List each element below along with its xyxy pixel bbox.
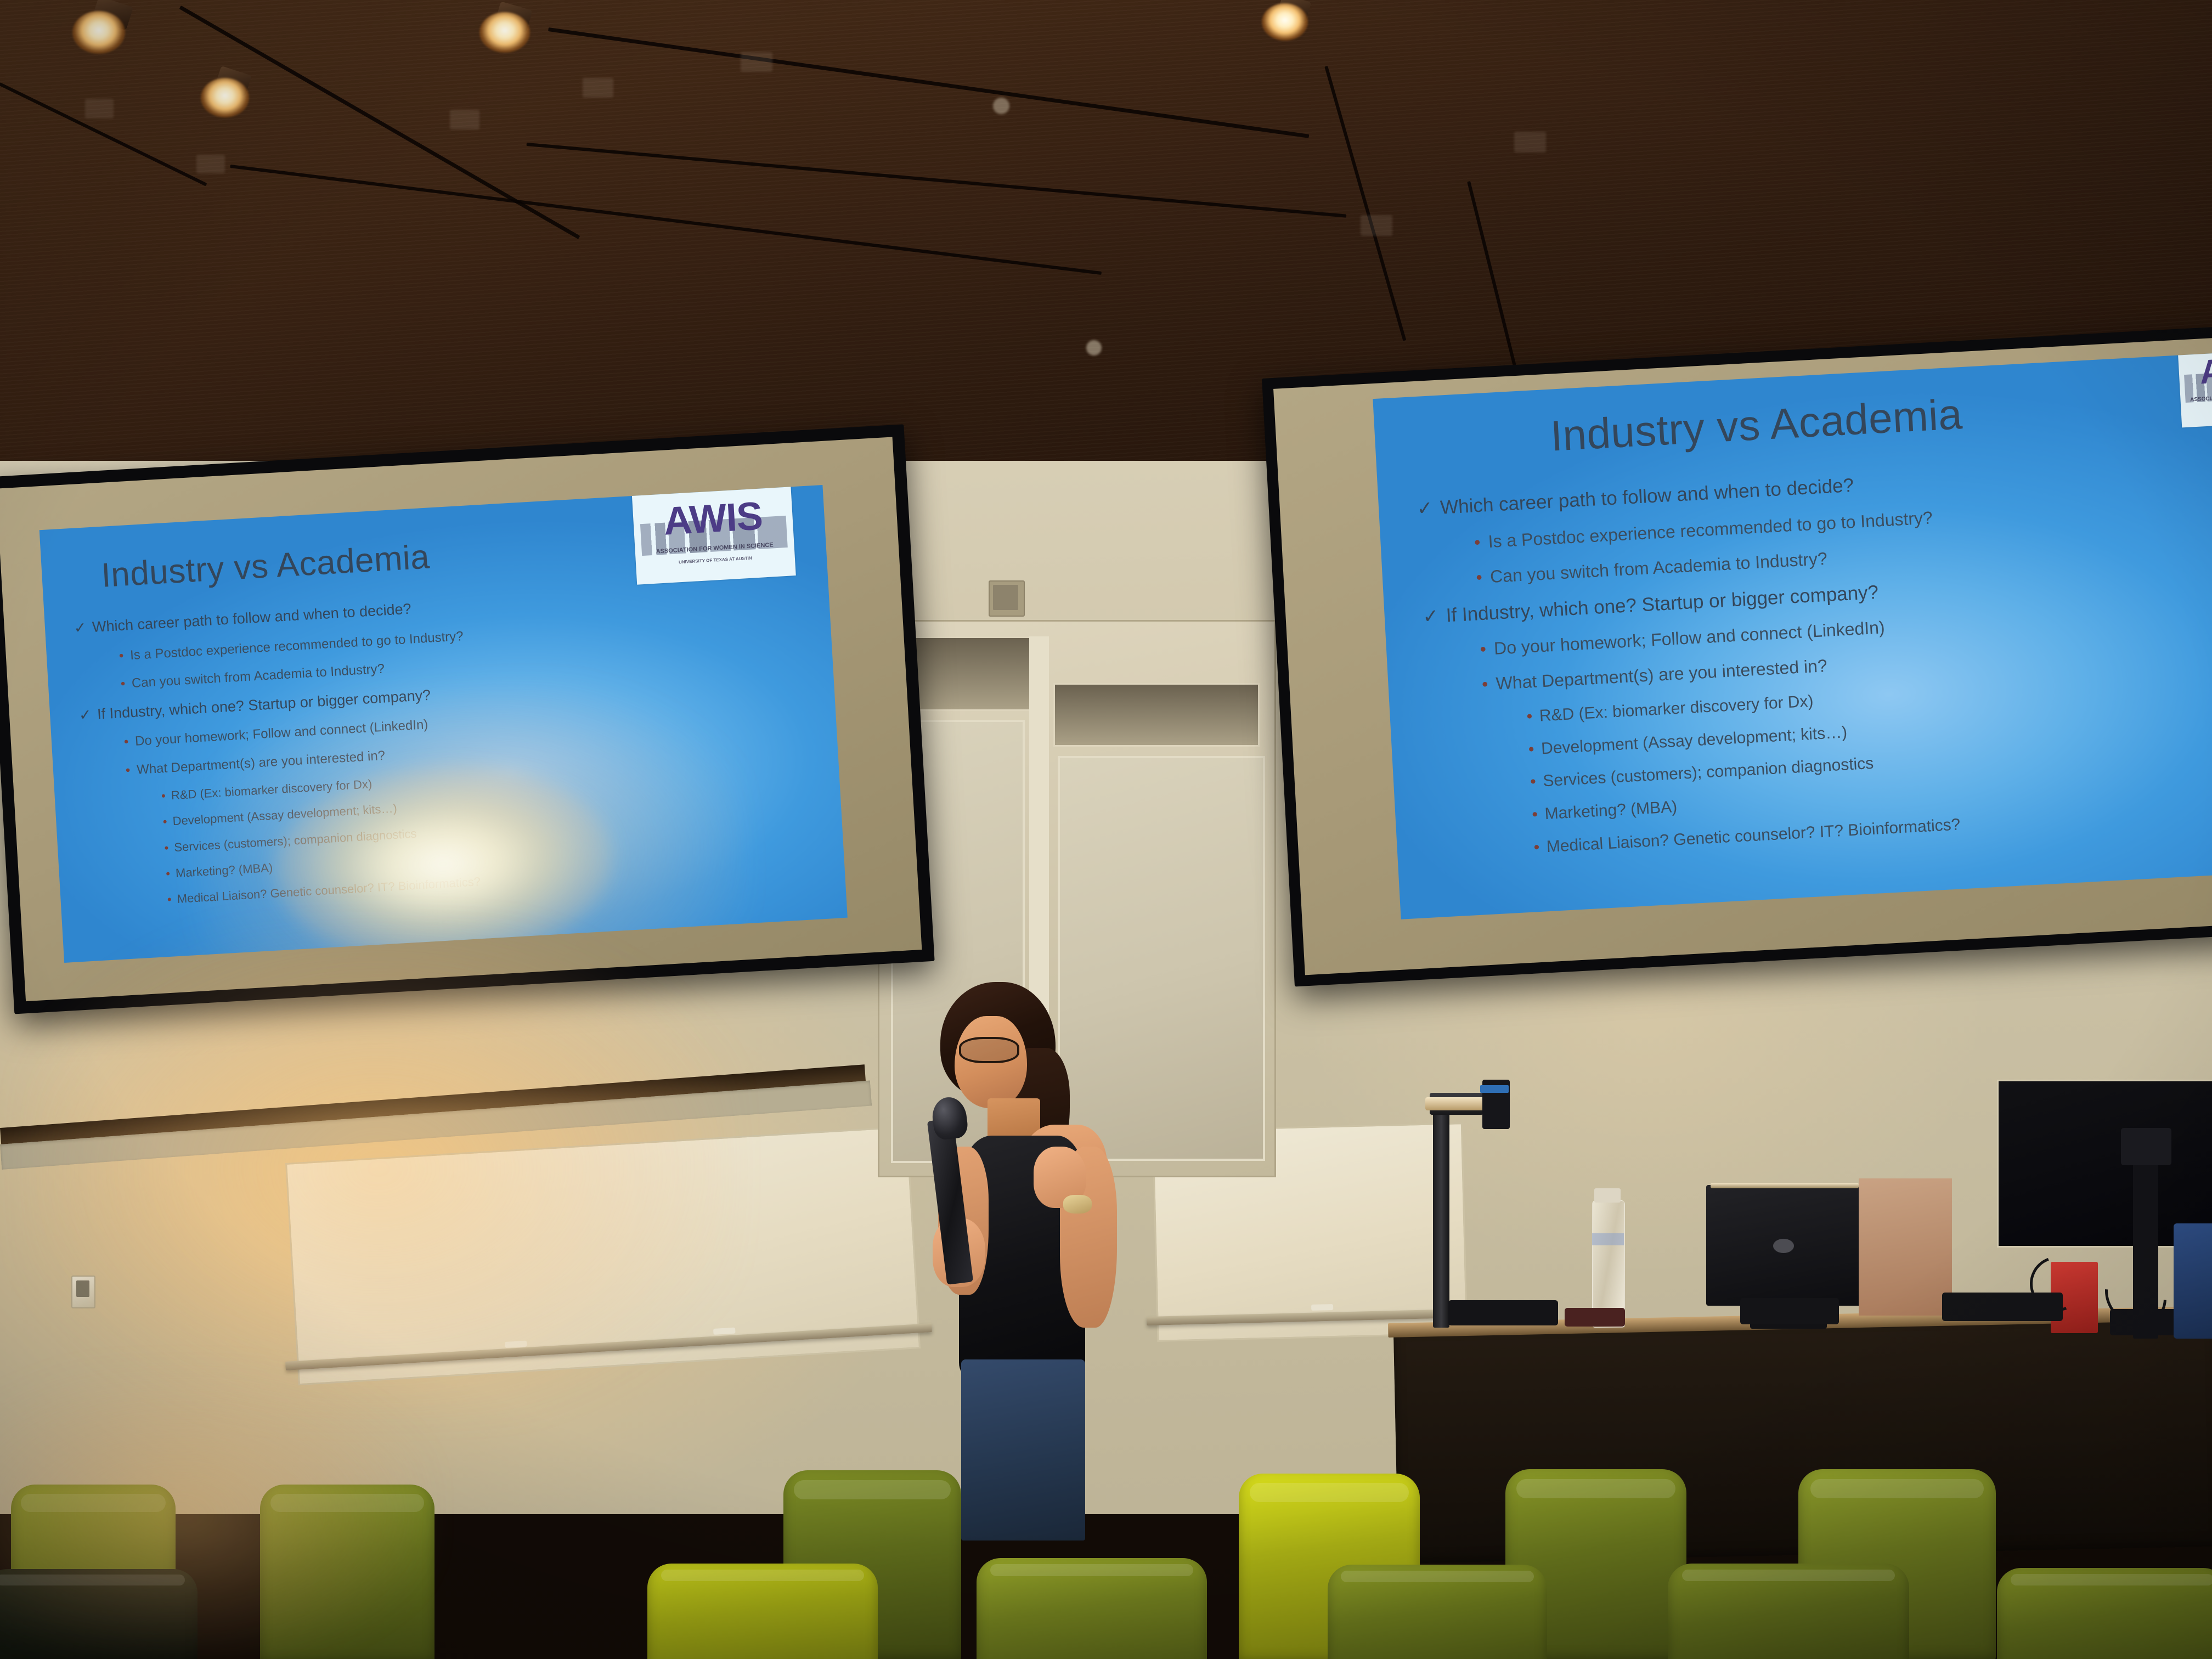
- right-slide-bullets: ✓ Which career path to follow and when t…: [1409, 454, 2212, 862]
- bullet-dot-icon: •: [114, 676, 132, 691]
- ceiling-vent: [85, 99, 114, 119]
- desk-cable-clutter: [1565, 1308, 1625, 1327]
- microphone-head: [930, 1096, 969, 1141]
- checkmark-icon: ✓: [72, 707, 98, 724]
- door-transom-window: [1053, 683, 1260, 747]
- presenter: [927, 982, 1147, 1531]
- wall-panel-display: [76, 1280, 89, 1297]
- projection-booth-opening: [1997, 1080, 2212, 1248]
- slide-bullet-text: Is a Postdoc experience recommended to g…: [129, 629, 464, 662]
- slide-bullet-text: Is a Postdoc experience recommended to g…: [1488, 509, 1933, 551]
- document-camera-lamp: [1425, 1097, 1486, 1110]
- bullet-dot-icon: •: [119, 763, 137, 777]
- bullet-dot-icon: •: [1519, 707, 1540, 726]
- cardboard-panel: [1859, 1178, 1952, 1316]
- left-slide: Industry vs Academia AWIS ASSOCIATION FO…: [39, 485, 848, 963]
- checkmark-icon: ✓: [1409, 498, 1441, 520]
- awis-logo-wordmark: AWIS: [2178, 352, 2212, 391]
- wristwatch: [1063, 1195, 1092, 1214]
- ceiling-vent: [1514, 132, 1546, 153]
- whiteboard-marker: [505, 1341, 527, 1348]
- bullet-dot-icon: •: [1466, 533, 1489, 552]
- slide-bullet-text: Marketing? (MBA): [1544, 798, 1678, 823]
- auditorium-seat[interactable]: [1997, 1568, 2212, 1659]
- speaker-grille-face: [993, 585, 1018, 610]
- desk-cable-clutter: [1448, 1300, 1558, 1325]
- ceiling-vent: [450, 110, 479, 129]
- bullet-dot-icon: •: [1471, 640, 1494, 659]
- eyeglasses-icon: [959, 1037, 1019, 1063]
- bullet-dot-icon: •: [161, 893, 177, 906]
- bullet-dot-icon: •: [157, 815, 173, 828]
- slide-bullet-text: What Department(s) are you interested in…: [136, 748, 385, 777]
- ceiling-vent: [741, 52, 772, 72]
- ceiling-vent: [196, 155, 225, 173]
- ceiling-spotlight: [72, 11, 125, 54]
- ceiling-vent: [1086, 340, 1102, 356]
- slide-bullet-text: Development (Assay development; kits…): [1541, 724, 1847, 758]
- bullet-dot-icon: •: [1468, 568, 1491, 588]
- slide-bullet-text: Development (Assay development; kits…): [172, 802, 397, 828]
- auditorium-seat[interactable]: [0, 1569, 198, 1659]
- ceiling-vent: [993, 98, 1009, 114]
- camera-tripod-base: [2110, 1309, 2180, 1335]
- water-bottle-label: [1592, 1233, 1624, 1245]
- slide-bullet-text: Services (customers); companion diagnost…: [174, 827, 417, 854]
- bullet-dot-icon: •: [155, 789, 171, 803]
- checkmark-icon: ✓: [67, 619, 93, 636]
- document-camera-post: [1433, 1108, 1449, 1328]
- slide-bullet-text: What Department(s) are you interested in…: [1496, 657, 1828, 693]
- slide-bullet-text: R&D (Ex: biomarker discovery for Dx): [1539, 692, 1814, 725]
- whiteboard-marker: [1311, 1304, 1333, 1311]
- monitor-logo-icon: [1773, 1239, 1794, 1253]
- slide-bullet-text: If Industry, which one? Startup or bigge…: [97, 687, 431, 723]
- slide-bullet-text: If Industry, which one? Startup or bigge…: [1446, 582, 1879, 626]
- awis-logo: AWIS ASSOCIATION FOR WOMEN IN SCIENCE UN…: [2177, 352, 2212, 427]
- bullet-dot-icon: •: [1521, 740, 1542, 759]
- bullet-dot-icon: •: [1526, 838, 1547, 857]
- ceiling-spotlight: [479, 12, 530, 53]
- checkmark-icon: ✓: [1415, 605, 1447, 627]
- monitor-top-bezel: [1711, 1183, 1859, 1188]
- camera-tripod-head: [2121, 1128, 2171, 1165]
- auditorium-seat[interactable]: [260, 1485, 435, 1659]
- slide-bullet-text: Do your homework; Follow and connect (Li…: [1493, 618, 1885, 658]
- slide-bullet-text: Marketing? (MBA): [175, 861, 273, 879]
- slide-bullet-text: Can you switch from Academia to Industry…: [1489, 550, 1827, 586]
- bullet-dot-icon: •: [112, 648, 130, 663]
- slide-title: Industry vs Academia: [1549, 389, 1963, 461]
- right-projection-screen: Industry vs Academia AWIS ASSOCIATION FO…: [1262, 325, 2212, 986]
- presenter-jeans: [961, 1359, 1085, 1541]
- bullet-dot-icon: •: [117, 735, 136, 749]
- water-bottle-cap: [1594, 1188, 1621, 1203]
- bullet-dot-icon: •: [1525, 805, 1545, 824]
- bullet-dot-icon: •: [160, 867, 176, 881]
- wall-control-panel[interactable]: [71, 1276, 95, 1308]
- slide-bullet-text: Which career path to follow and when to …: [92, 601, 411, 635]
- slide-title: Industry vs Academia: [100, 538, 431, 595]
- left-projection-screen: Industry vs Academia AWIS ASSOCIATION FO…: [0, 424, 935, 1014]
- bullet-dot-icon: •: [1523, 773, 1544, 792]
- wall-speaker-grille: [989, 580, 1025, 617]
- whiteboard-marker: [713, 1328, 736, 1335]
- auditorium-seat[interactable]: [647, 1564, 878, 1659]
- auditorium-seat[interactable]: [1328, 1565, 1547, 1659]
- ceiling-spotlight: [1262, 3, 1308, 41]
- slide-bullet-text: Can you switch from Academia to Industry…: [131, 662, 385, 691]
- person-in-jeans: [2174, 1223, 2212, 1339]
- right-slide: Industry vs Academia AWIS ASSOCIATION FO…: [1373, 352, 2212, 919]
- lecture-hall-scene: Industry vs Academia AWIS ASSOCIATION FO…: [0, 0, 2212, 1659]
- desk-cable-clutter: [1942, 1293, 2063, 1321]
- awis-logo: AWIS ASSOCIATION FOR WOMEN IN SCIENCE UN…: [631, 485, 795, 585]
- bullet-dot-icon: •: [1474, 675, 1497, 695]
- slide-bullet-text: Do your homework; Follow and connect (Li…: [134, 718, 428, 748]
- ceiling-vent: [1361, 215, 1392, 236]
- slide-bullet-text: Which career path to follow and when to …: [1440, 475, 1854, 518]
- slide-bullet-text: Medical Liaison? Genetic counselor? IT? …: [1546, 816, 1961, 856]
- bullet-dot-icon: •: [159, 841, 174, 855]
- slide-bullet-text: R&D (Ex: biomarker discovery for Dx): [171, 777, 372, 802]
- ceiling-vent: [583, 78, 613, 98]
- auditorium-seat[interactable]: [977, 1558, 1207, 1659]
- desk-cable-clutter: [1740, 1298, 1839, 1324]
- auditorium-seat[interactable]: [1668, 1564, 1909, 1659]
- slide-bullet-text: Medical Liaison? Genetic counselor? IT? …: [177, 875, 481, 905]
- document-camera-indicator: [1480, 1085, 1509, 1093]
- slide-bullet-text: Services (customers); companion diagnost…: [1543, 755, 1874, 790]
- ceiling-spotlight: [201, 78, 249, 117]
- left-slide-bullets: ✓ Which career path to follow and when t…: [67, 578, 829, 911]
